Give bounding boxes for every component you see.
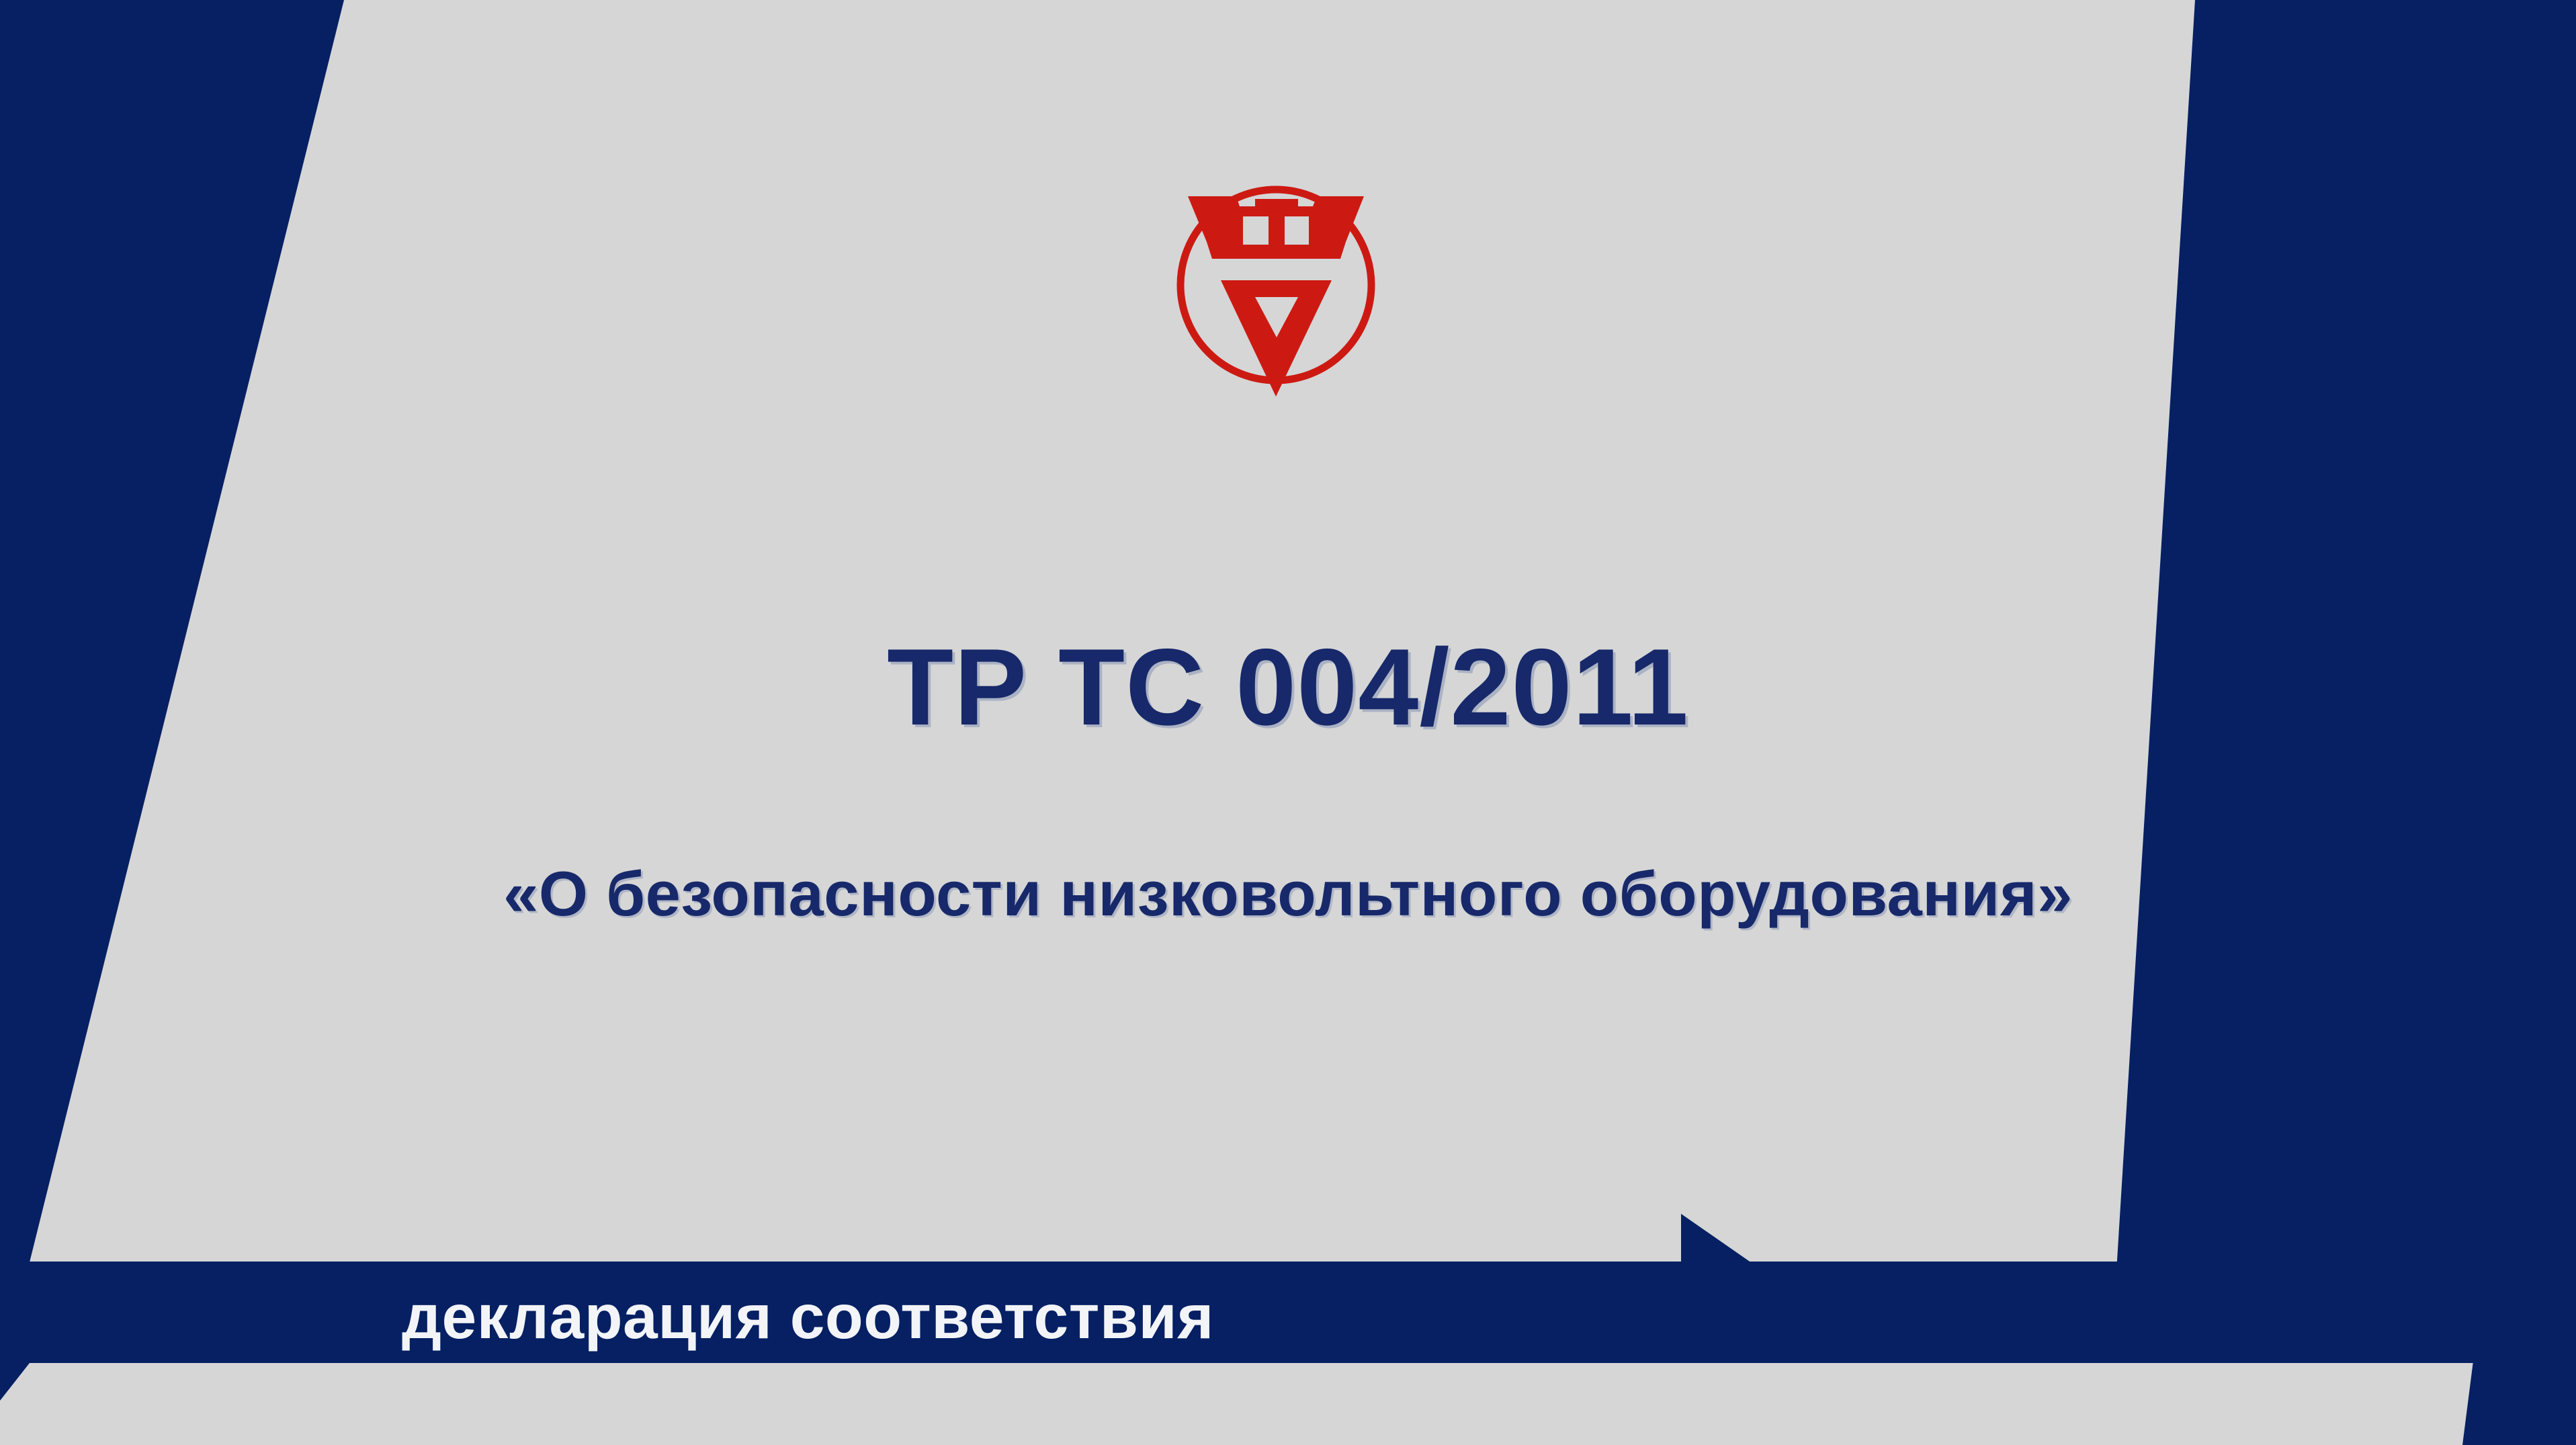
banner-label: декларация соответствия xyxy=(402,1281,1214,1353)
bottom-light-strip xyxy=(0,1363,2576,1445)
slide-canvas: ТР ТС 004/2011 «О безопасности низковоль… xyxy=(0,0,2576,1445)
eac-conformity-mark-icon xyxy=(1170,169,1385,398)
bottom-banner-bar xyxy=(0,1262,2576,1363)
page-subtitle: «О безопасности низковольтного оборудова… xyxy=(0,858,2576,930)
page-title: ТР ТС 004/2011 xyxy=(0,625,2576,750)
